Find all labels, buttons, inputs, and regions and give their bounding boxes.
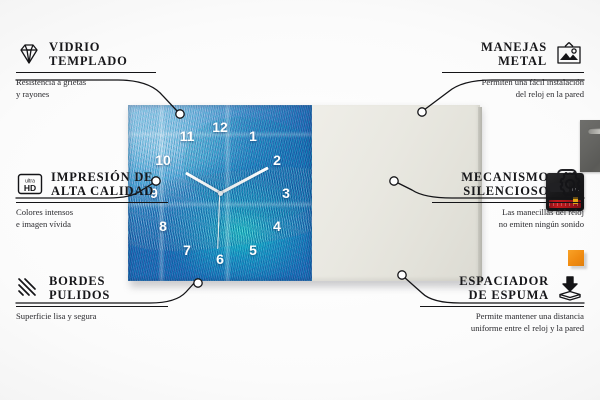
sub-line-2: del reloj en la pared	[442, 89, 584, 101]
callout-tempered-glass-sub: Resistencia a grietas y rayones	[16, 77, 156, 100]
callout-rule	[442, 72, 584, 74]
title-line-2: METAL	[481, 54, 547, 68]
callout-hd-print: ultra HD IMPRESIÓN DE ALTA CALIDAD Color…	[16, 170, 168, 231]
title-line-1: MANEJAS	[481, 40, 547, 54]
callout-metal-handles-title: MANEJAS METAL	[481, 40, 547, 69]
callout-silent-mechanism-sub: Las manecillas del reloj no emiten ningú…	[432, 207, 584, 230]
callout-silent-mechanism-title: MECANISMO SILENCIOSO	[461, 170, 549, 199]
callout-rule	[16, 202, 168, 204]
sub-line-1: Colores intensos	[16, 207, 168, 219]
callout-silent-mechanism-head: MECANISMO SILENCIOSO	[432, 170, 584, 199]
sub-line-1: Las manecillas del reloj	[432, 207, 584, 219]
foam-spacer	[568, 250, 584, 266]
callout-foam-spacer-title: ESPACIADOR DE ESPUMA	[459, 274, 549, 303]
infographic-canvas: 12 1 2 3 4 5 6 7 8 9 10 11	[0, 0, 600, 400]
title-line-1: IMPRESIÓN DE	[51, 170, 154, 184]
sub-line-2: y rayones	[16, 89, 156, 101]
hanger-slot	[588, 128, 600, 134]
callout-silent-mechanism: MECANISMO SILENCIOSO Las manecillas del …	[432, 170, 584, 231]
callout-tempered-glass: VIDRIO TEMPLADO Resistencia a grietas y …	[16, 40, 156, 101]
sub-line-2: e imagen vívida	[16, 219, 168, 231]
callout-hd-print-sub: Colores intensos e imagen vívida	[16, 207, 168, 230]
callout-rule	[16, 72, 156, 74]
sub-line-1: Superficie lisa y segura	[16, 311, 168, 323]
callout-tempered-glass-title: VIDRIO TEMPLADO	[49, 40, 128, 69]
product-photo: 12 1 2 3 4 5 6 7 8 9 10 11	[128, 105, 480, 283]
title-line-2: TEMPLADO	[49, 54, 128, 68]
sub-line-1: Resistencia a grietas	[16, 77, 156, 89]
svg-text:HD: HD	[24, 183, 36, 193]
callout-foam-spacer: ESPACIADOR DE ESPUMA Permite mantener un…	[420, 274, 584, 335]
title-line-1: BORDES	[49, 274, 110, 288]
sub-line-2: uniforme entre el reloj y la pared	[420, 323, 584, 335]
callout-foam-spacer-head: ESPACIADOR DE ESPUMA	[420, 274, 584, 303]
callout-polished-edges-head: BORDES PULIDOS	[16, 274, 168, 303]
callout-polished-edges-sub: Superficie lisa y segura	[16, 311, 168, 323]
callout-metal-handles-sub: Permiten una fácil instalación del reloj…	[442, 77, 584, 100]
ultra-hd-icon: ultra HD	[16, 172, 44, 196]
callout-metal-handles-head: MANEJAS METAL	[442, 40, 584, 69]
title-line-2: PULIDOS	[49, 288, 110, 302]
title-line-2: DE ESPUMA	[459, 288, 549, 302]
arrow-down-foam-icon	[556, 275, 584, 301]
callout-hd-print-head: ultra HD IMPRESIÓN DE ALTA CALIDAD	[16, 170, 168, 199]
metal-hanger-plate	[580, 120, 600, 172]
title-line-1: VIDRIO	[49, 40, 128, 54]
title-line-1: ESPACIADOR	[459, 274, 549, 288]
sub-line-1: Permite mantener una distancia	[420, 311, 584, 323]
title-line-2: SILENCIOSO	[461, 184, 549, 198]
callout-polished-edges-title: BORDES PULIDOS	[49, 274, 110, 303]
diagonal-lines-icon	[16, 276, 42, 300]
callout-hd-print-title: IMPRESIÓN DE ALTA CALIDAD	[51, 170, 154, 199]
callout-rule	[432, 202, 584, 204]
callout-rule	[420, 306, 584, 308]
callout-metal-handles: MANEJAS METAL Permiten una fácil instala…	[442, 40, 584, 101]
picture-frame-hanging-icon	[554, 41, 584, 67]
diamond-icon	[16, 42, 42, 66]
callout-polished-edges: BORDES PULIDOS Superficie lisa y segura	[16, 274, 168, 323]
title-line-2: ALTA CALIDAD	[51, 184, 154, 198]
callout-tempered-glass-head: VIDRIO TEMPLADO	[16, 40, 156, 69]
sub-line-1: Permiten una fácil instalación	[442, 77, 584, 89]
gear-icon	[556, 171, 584, 197]
title-line-1: MECANISMO	[461, 170, 549, 184]
sub-line-2: no emiten ningún sonido	[432, 219, 584, 231]
callout-foam-spacer-sub: Permite mantener una distancia uniforme …	[420, 311, 584, 334]
callout-rule	[16, 306, 168, 308]
